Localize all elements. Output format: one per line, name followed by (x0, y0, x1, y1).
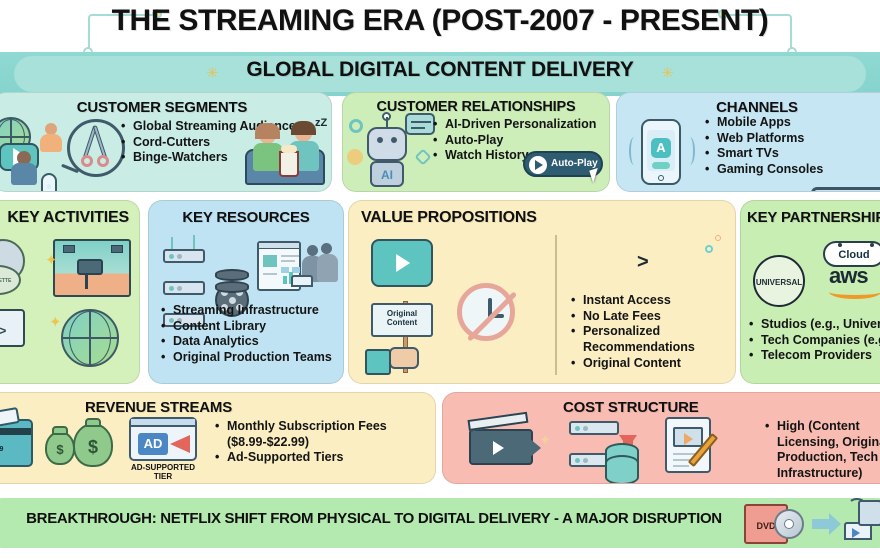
subtitle: GLOBAL DIGITAL CONTENT DELIVERY (0, 58, 880, 82)
panel-key-partnerships[interactable]: KEY PARTNERSHIPS UNIVERSAL Cloud aws te … (740, 200, 880, 384)
universal-studios-logo: UNIVERSAL (753, 255, 805, 307)
card-amount: $22.99 (0, 446, 3, 453)
code-window-icon: </> (0, 309, 25, 347)
hand-icon (389, 347, 419, 369)
comparison-glyph: > (637, 251, 649, 274)
film-camera-clapper-icon (469, 429, 533, 465)
list-item: Streaming Infrastructure (161, 303, 332, 319)
panel-title-key-resources: KEY RESOURCES (149, 209, 343, 226)
avatar-body-2 (40, 134, 62, 152)
film-reel-3 (215, 281, 249, 293)
server-rack-icon (163, 249, 205, 263)
list-item: Data Analytics (161, 334, 332, 350)
list-item: Original Content (571, 356, 731, 372)
team-member-head (321, 243, 332, 254)
panel-title-cost-structure: COST STRUCTURE (563, 399, 699, 416)
list-item: Monthly Subscription Fees ($8.99-$22.99) (215, 419, 415, 450)
panel-value-propositions[interactable]: VALUE PROPOSITIONS Original Content (348, 200, 736, 384)
zzz-label: zZ (315, 117, 327, 129)
panel-title-key-activities: KEY ACTIVITIES (7, 209, 139, 227)
smartphone-icon (41, 173, 57, 192)
dvd-label: DVD (756, 521, 775, 531)
viewer-hair-2 (291, 121, 316, 135)
money-bag-icon: $ (45, 431, 75, 465)
list-item: Content Library (161, 319, 332, 335)
credit-card-icon: $22.99 (0, 419, 33, 467)
smart-tv-icon: Smart TV aws NETFLIX hulu DOC (811, 187, 880, 192)
decor-node (715, 235, 721, 241)
list-item: Web Platforms (705, 131, 823, 147)
panel-customer-segments[interactable]: CUSTOMER SEGMENTS Global Streaming Audie… (0, 92, 332, 192)
ad-supported-tier-label: AD-SUPPORTED TIER (123, 463, 203, 481)
bullet-list-cost-structure: High (Content Licensing, Original Produc… (765, 419, 880, 482)
panel-channels[interactable]: CHANNELS A Mobile Apps Web Platforms Sma… (616, 92, 880, 192)
money-bag-icon: $ (73, 423, 113, 467)
play-icon (529, 156, 547, 174)
transition-arrow-icon (812, 519, 830, 529)
panel-title-key-partnerships: KEY PARTNERSHIPS (747, 209, 880, 226)
list-item: Personalized Recommendations (571, 324, 731, 355)
server-database-icon (569, 421, 619, 435)
cloud-label: Cloud (838, 249, 869, 261)
server-link (171, 237, 173, 249)
page-title: THE STREAMING ERA (POST-2007 - PRESENT) (0, 4, 880, 38)
sleeve-icon (365, 349, 391, 375)
robot-ai-label: AI (370, 161, 404, 187)
ad-window-icon: AD (129, 417, 197, 461)
bullet-list-value-propositions: Instant Access No Late Fees Personalized… (571, 293, 731, 371)
title-zone: THE STREAMING ERA (POST-2007 - PRESENT) (0, 0, 880, 52)
disc-icon (774, 509, 804, 539)
divider (555, 235, 557, 375)
list-item: No Late Fees (571, 309, 731, 325)
infographic-canvas: THE STREAMING ERA (POST-2007 - PRESENT) … (0, 0, 880, 559)
list-item: Gaming Consoles (705, 162, 823, 178)
panel-customer-relationships[interactable]: CUSTOMER RELATIONSHIPS AI AI-Driven Pers… (342, 92, 610, 192)
sign-label: Original Content (387, 309, 417, 327)
smartphone-icon: A (641, 119, 681, 185)
database-icon (605, 455, 639, 484)
decor-node (705, 245, 713, 253)
server-link (193, 235, 195, 249)
diamond-decor (415, 149, 432, 166)
ad-badge: AD (138, 433, 168, 455)
panel-title-revenue-streams: REVENUE STREAMS (85, 399, 232, 416)
laptop-icon (291, 275, 313, 287)
wifi-icon (848, 498, 866, 512)
dot-decor (347, 149, 363, 165)
list-item: Smart TVs (705, 146, 823, 162)
viewer-hair-1 (255, 123, 280, 139)
bullet-list-key-resources: Streaming Infrastructure Content Library… (161, 303, 332, 366)
list-item: AI-Driven Personalization (433, 117, 596, 133)
chat-bubble-icon (405, 113, 435, 135)
panel-title-customer-segments: CUSTOMER SEGMENTS (0, 99, 331, 116)
play-button-icon (371, 239, 433, 287)
list-item: Mobile Apps (705, 115, 823, 131)
panel-title-value-propositions: VALUE PROPOSITIONS (361, 209, 537, 227)
signal-wave-left (629, 137, 639, 165)
globe-icon (61, 309, 119, 367)
bullet-list-channels: Mobile Apps Web Platforms Smart TVs Gami… (705, 115, 823, 178)
auto-play-label: Auto-Play (551, 158, 598, 169)
gear-icon (349, 119, 363, 133)
avatar-body (11, 163, 37, 185)
breakthrough-text: BREAKTHROUGH: NETFLIX SHIFT FROM PHYSICA… (0, 510, 754, 527)
list-item: Studios (e.g., Universal) (749, 317, 880, 333)
list-item: Ad-Supported Tiers (215, 450, 415, 466)
list-item: High (Content Licensing, Original Produc… (765, 419, 880, 482)
scissor-ring-1 (81, 155, 93, 167)
panel-title-channels: CHANNELS (617, 99, 880, 116)
film-studio-lights-icon (53, 239, 131, 297)
panel-key-resources[interactable]: KEY RESOURCES (148, 200, 344, 384)
list-item: Instant Access (571, 293, 731, 309)
bullet-list-revenue-streams: Monthly Subscription Fees ($8.99-$22.99)… (215, 419, 415, 466)
code-glyph: </> (0, 323, 6, 338)
scissor-ring-2 (97, 155, 109, 167)
team-member-body (317, 254, 338, 282)
list-item: Tech Companies (e.g., AWS) (749, 333, 880, 349)
panel-key-activities[interactable]: KEY ACTIVITIES CASSETTE </> ✦ ✦ (0, 200, 140, 384)
popcorn-kernels (281, 145, 297, 153)
film-reel-2 (215, 269, 249, 281)
server-rack-icon (163, 281, 205, 295)
signal-wave-right (685, 137, 695, 165)
bullet-list-key-partnerships: Studios (e.g., Universal) Tech Companies… (749, 317, 880, 364)
list-item: Auto-Play (433, 133, 596, 149)
original-content-sign-icon: Original Content (371, 303, 433, 337)
list-item: Telecom Providers (749, 348, 880, 364)
panel-revenue-streams[interactable]: REVENUE STREAMS $22.99 $ $ AD AD-SUPPORT… (0, 392, 436, 484)
team-member-head (307, 245, 318, 256)
no-late-fees-clock-icon (457, 283, 515, 341)
megaphone-icon (170, 435, 190, 453)
app-store-icon: A (651, 138, 671, 158)
universal-label: UNIVERSAL (756, 278, 802, 287)
popcorn-icon (279, 151, 299, 177)
list-item: Original Production Teams (161, 350, 332, 366)
panel-cost-structure[interactable]: COST STRUCTURE ✦ High (Content Licensing… (442, 392, 880, 484)
aws-smile-icon (829, 285, 880, 299)
